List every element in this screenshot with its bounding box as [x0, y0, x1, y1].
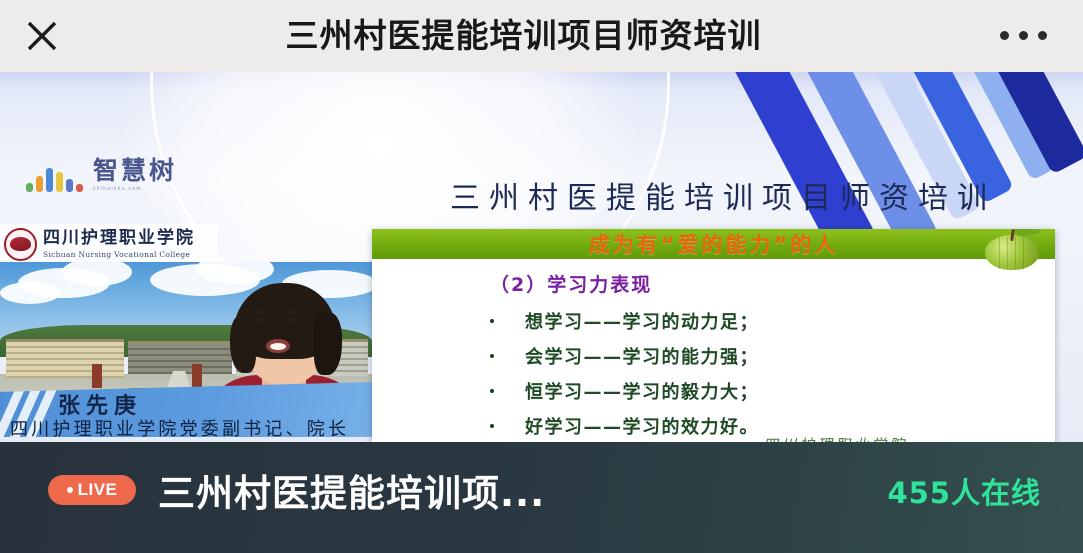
close-button[interactable]: [0, 18, 84, 54]
bullet-text: 会学习——学习的能力强；: [525, 343, 759, 369]
status-badge: LIVE: [48, 475, 136, 505]
video-player-stage[interactable]: 三州村医提能培训项目师资培训 智慧树 zhihuishu.com 四川护理: [0, 72, 1083, 442]
decorative-ribbons: [703, 72, 1083, 252]
bullet-text: 好学习——学习的效力好。: [525, 413, 759, 439]
more-options-icon: [995, 27, 1052, 45]
bullet-dot-icon: [490, 319, 494, 323]
live-stream-screen: 三州村医提能培训项目师资培训 三州村医提能培训项目师资培训: [0, 0, 1083, 553]
live-label: LIVE: [78, 480, 118, 500]
bullet-dot-icon: [490, 389, 494, 393]
slide-title: 成为有“爱的能力”的人: [589, 229, 839, 259]
stream-title: 三州村医提能培训项...: [158, 463, 545, 517]
logo-name-en: zhihuishu.com: [93, 186, 177, 192]
page-title: 三州村医提能培训项目师资培训: [84, 0, 963, 72]
bullet-dot-icon: [490, 354, 494, 358]
apple-icon: [983, 229, 1041, 271]
bullet-text: 恒学习——学习的毅力大；: [525, 378, 759, 404]
slide-subheading: （2）学习力表现: [490, 270, 1055, 297]
college-seal-icon: [4, 228, 37, 261]
logo-name-cn: 智慧树: [93, 158, 177, 183]
college-banner: 四川护理职业学院 Sichuan Nursing Vocational Coll…: [0, 224, 218, 264]
close-icon: [24, 18, 60, 54]
zhihuishu-logo: 智慧树 zhihuishu.com: [26, 158, 177, 192]
slide-bullet-list: 想学习——学习的动力足； 会学习——学习的能力强； 恒学习——学习的毅力大； 好…: [490, 308, 1055, 439]
broadcast-title: 三州村医提能培训项目师资培训: [450, 173, 996, 217]
live-dot-icon: [67, 487, 73, 493]
bullet-dot-icon: [490, 424, 494, 428]
live-info-bar: LIVE 三州村医提能培训项... 455人在线 聊天 相关: [0, 442, 1083, 553]
list-item: 想学习——学习的动力足；: [490, 308, 1055, 334]
list-item: 恒学习——学习的毅力大；: [490, 378, 1055, 404]
more-options-button[interactable]: [963, 27, 1083, 45]
online-viewer-count: 455人在线: [887, 470, 1041, 512]
bullet-text: 想学习——学习的动力足；: [525, 308, 759, 334]
presenter-role: 四川护理职业学院党委副书记、院长: [10, 415, 349, 437]
college-name-en: Sichuan Nursing Vocational College: [43, 250, 195, 259]
presentation-slide: 成为有“爱的能力”的人 （2）学习力表现 想学习——学习的动力足；: [372, 229, 1055, 442]
logo-bars-icon: [26, 166, 86, 192]
top-navigation-bar: 三州村医提能培训项目师资培训: [0, 0, 1083, 72]
list-item: 会学习——学习的能力强；: [490, 343, 1055, 369]
college-name-cn: 四川护理职业学院: [43, 230, 195, 247]
slide-banner: 成为有“爱的能力”的人: [372, 229, 1055, 259]
slide-footer: 四川护理职业学院: [763, 434, 907, 442]
